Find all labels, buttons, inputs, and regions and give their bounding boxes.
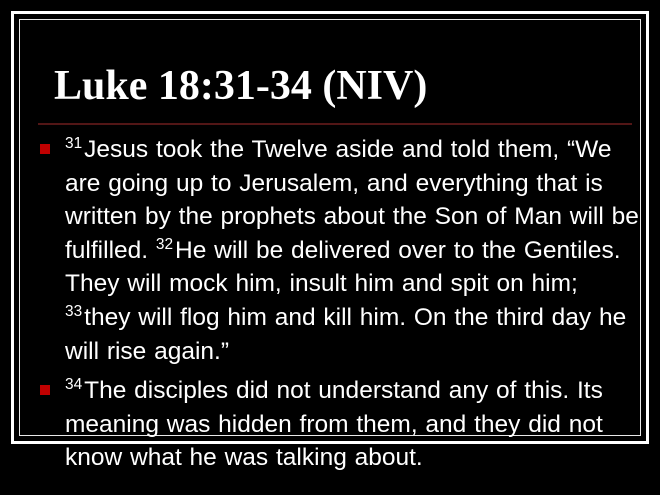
slide-title: Luke 18:31-34 (NIV) [54,62,634,110]
verse-number: 34 [65,376,84,393]
verse-number: 31 [65,135,84,152]
verse-number: 33 [65,303,84,320]
bullet-paragraph: 34The disciples did not understand any o… [65,374,642,475]
bullet-paragraph: 31Jesus took the Twelve aside and told t… [65,133,642,368]
square-bullet-icon [40,385,50,395]
verse-text: He will be delivered over to the Gentile… [65,237,621,298]
slide-canvas: Luke 18:31-34 (NIV) 31Jesus took the Twe… [0,0,660,495]
slide-body: 31Jesus took the Twelve aside and told t… [38,133,642,475]
title-divider-rule [38,123,632,125]
square-bullet-icon [40,144,50,154]
verse-text: The disciples did not understand any of … [65,377,603,471]
verse-number: 32 [156,236,175,253]
verse-text: they will flog him and kill him. On the … [65,304,626,365]
bullet-item-verse-31: 31Jesus took the Twelve aside and told t… [38,133,642,368]
bullet-item-verse-34: 34The disciples did not understand any o… [38,374,642,475]
